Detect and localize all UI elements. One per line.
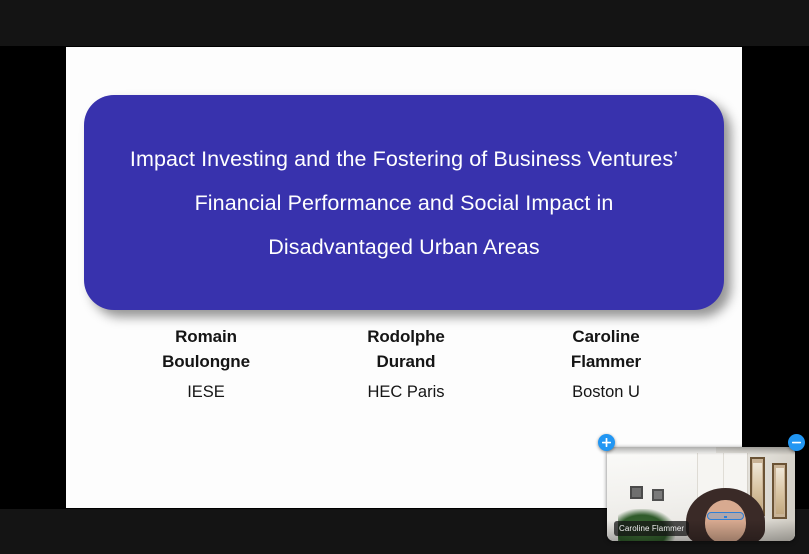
video-background-wall-art-2 [772, 463, 787, 519]
glasses-bridge [724, 516, 727, 518]
author-last-name: Boulongne [106, 350, 306, 375]
author-entry: Romain Boulongne IESE [106, 325, 306, 404]
author-affiliation: Boston U [506, 380, 706, 404]
author-affiliation: HEC Paris [306, 380, 506, 404]
slide-title-line-3: Disadvantaged Urban Areas [268, 225, 539, 269]
video-background-wall-object-1 [630, 486, 643, 499]
author-first-name: Romain [106, 325, 306, 350]
participant-name-label: Caroline Flammer [614, 521, 689, 536]
plus-icon [598, 434, 615, 451]
minus-icon [788, 434, 805, 451]
wall-art-canvas [776, 468, 784, 514]
author-first-name: Rodolphe [306, 325, 506, 350]
shared-slide[interactable]: Impact Investing and the Fostering of Bu… [66, 47, 742, 508]
video-top-vignette [607, 447, 795, 455]
slide-title-line-1: Impact Investing and the Fostering of Bu… [130, 137, 678, 181]
screen-share-viewport: Impact Investing and the Fostering of Bu… [0, 0, 809, 554]
letterbox-left [0, 46, 66, 509]
slide-title-line-2: Financial Performance and Social Impact … [195, 181, 614, 225]
letterbox-top [0, 0, 809, 46]
author-last-name: Flammer [506, 350, 706, 375]
author-affiliation: IESE [106, 380, 306, 404]
expand-video-button[interactable] [598, 434, 615, 451]
video-background-wall-object-2 [652, 489, 664, 501]
participant-video-tile[interactable]: Caroline Flammer [607, 447, 795, 541]
author-entry: Rodolphe Durand HEC Paris [306, 325, 506, 404]
collapse-video-button[interactable] [788, 434, 805, 451]
slide-title-box: Impact Investing and the Fostering of Bu… [84, 95, 724, 310]
author-first-name: Caroline [506, 325, 706, 350]
author-last-name: Durand [306, 350, 506, 375]
author-list: Romain Boulongne IESE Rodolphe Durand HE… [106, 325, 706, 404]
author-entry: Caroline Flammer Boston U [506, 325, 706, 404]
participant-glasses [707, 512, 745, 520]
